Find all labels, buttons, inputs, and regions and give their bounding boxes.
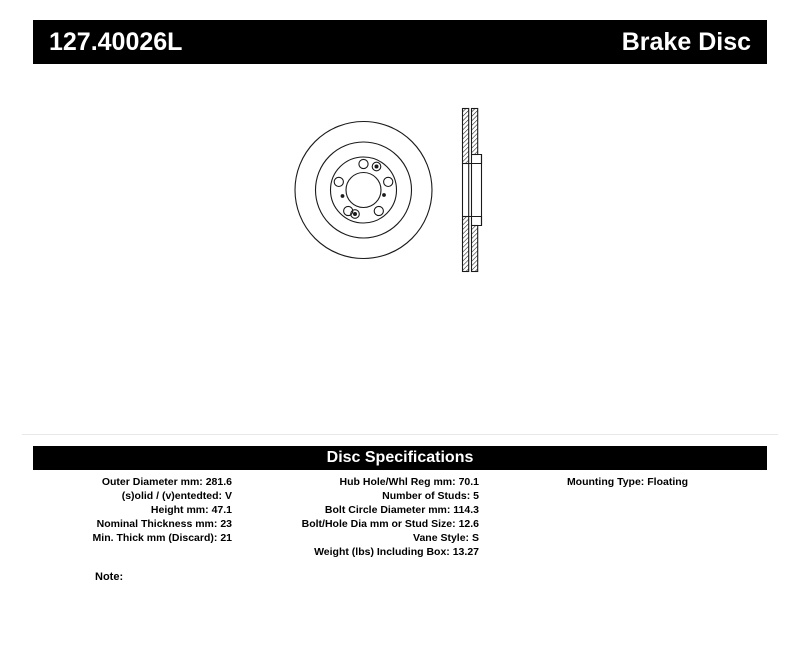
part-number-label: 127.40026L — [49, 30, 182, 55]
spec-row: Number of Studs: 5 — [238, 489, 479, 503]
spec-value: V — [225, 490, 232, 502]
spec-label: Bolt Circle Diameter mm: — [325, 504, 450, 516]
spec-label: Outer Diameter mm: — [102, 476, 203, 488]
spec-row: Bolt/Hole Dia mm or Stud Size: 12.6 — [238, 517, 479, 531]
spec-title-label: Disc Specifications — [327, 450, 474, 466]
spec-label: Hub Hole/Whl Reg mm: — [340, 476, 456, 488]
spec-value: 114.3 — [453, 504, 479, 516]
note-label: Note: — [95, 571, 123, 583]
spec-columns: Outer Diameter mm: 281.6 (s)olid / (v)en… — [33, 475, 767, 585]
spec-value: 12.6 — [459, 518, 479, 530]
spec-label: Bolt/Hole Dia mm or Stud Size: — [302, 518, 456, 530]
spec-value: 70.1 — [459, 476, 479, 488]
spec-label: Weight (lbs) Including Box: — [314, 546, 450, 558]
spec-row: Min. Thick mm (Discard): 21 — [33, 531, 232, 545]
spec-value: 21 — [220, 532, 232, 544]
spec-value: 5 — [473, 490, 479, 502]
spec-column-right: Mounting Type: Floating — [488, 475, 767, 489]
spec-row: Hub Hole/Whl Reg mm: 70.1 — [238, 475, 479, 489]
spec-row: Bolt Circle Diameter mm: 114.3 — [238, 503, 479, 517]
spec-label: Nominal Thickness mm: — [97, 518, 218, 530]
spec-row: Outer Diameter mm: 281.6 — [33, 475, 232, 489]
spec-value: 13.27 — [453, 546, 479, 558]
spec-label: Min. Thick mm (Discard): — [93, 532, 218, 544]
spec-label: Mounting Type: — [567, 476, 644, 488]
spec-label: Height mm: — [151, 504, 209, 516]
spec-label: Vane Style: — [413, 532, 469, 544]
spec-column-middle: Hub Hole/Whl Reg mm: 70.1 Number of Stud… — [238, 475, 479, 559]
rotor-edge-section-view — [463, 109, 482, 272]
spec-row: Weight (lbs) Including Box: 13.27 — [238, 545, 479, 559]
spec-column-left: Outer Diameter mm: 281.6 (s)olid / (v)en… — [33, 475, 232, 545]
spec-label: (s)olid / (v)entedted: — [122, 490, 222, 502]
spec-row: Nominal Thickness mm: 23 — [33, 517, 232, 531]
spec-row: Height mm: 47.1 — [33, 503, 232, 517]
spec-title-bar: Disc Specifications — [33, 446, 767, 470]
spec-row: (s)olid / (v)entedted: V — [33, 489, 232, 503]
rotor-face-view — [295, 122, 432, 259]
note-row: Note: — [95, 570, 123, 584]
spec-value: 47.1 — [212, 504, 232, 516]
spec-value: S — [472, 532, 479, 544]
brake-disc-drawing — [285, 90, 515, 290]
header-bar: 127.40026L Brake Disc — [33, 20, 767, 64]
spec-label: Number of Studs: — [382, 490, 470, 502]
spec-value: 23 — [220, 518, 232, 530]
spec-row: Mounting Type: Floating — [488, 475, 767, 489]
product-type-label: Brake Disc — [622, 30, 751, 55]
spec-value: 281.6 — [206, 476, 232, 488]
spec-divider — [22, 434, 778, 435]
spec-value: Floating — [647, 476, 688, 488]
spec-row: Vane Style: S — [238, 531, 479, 545]
